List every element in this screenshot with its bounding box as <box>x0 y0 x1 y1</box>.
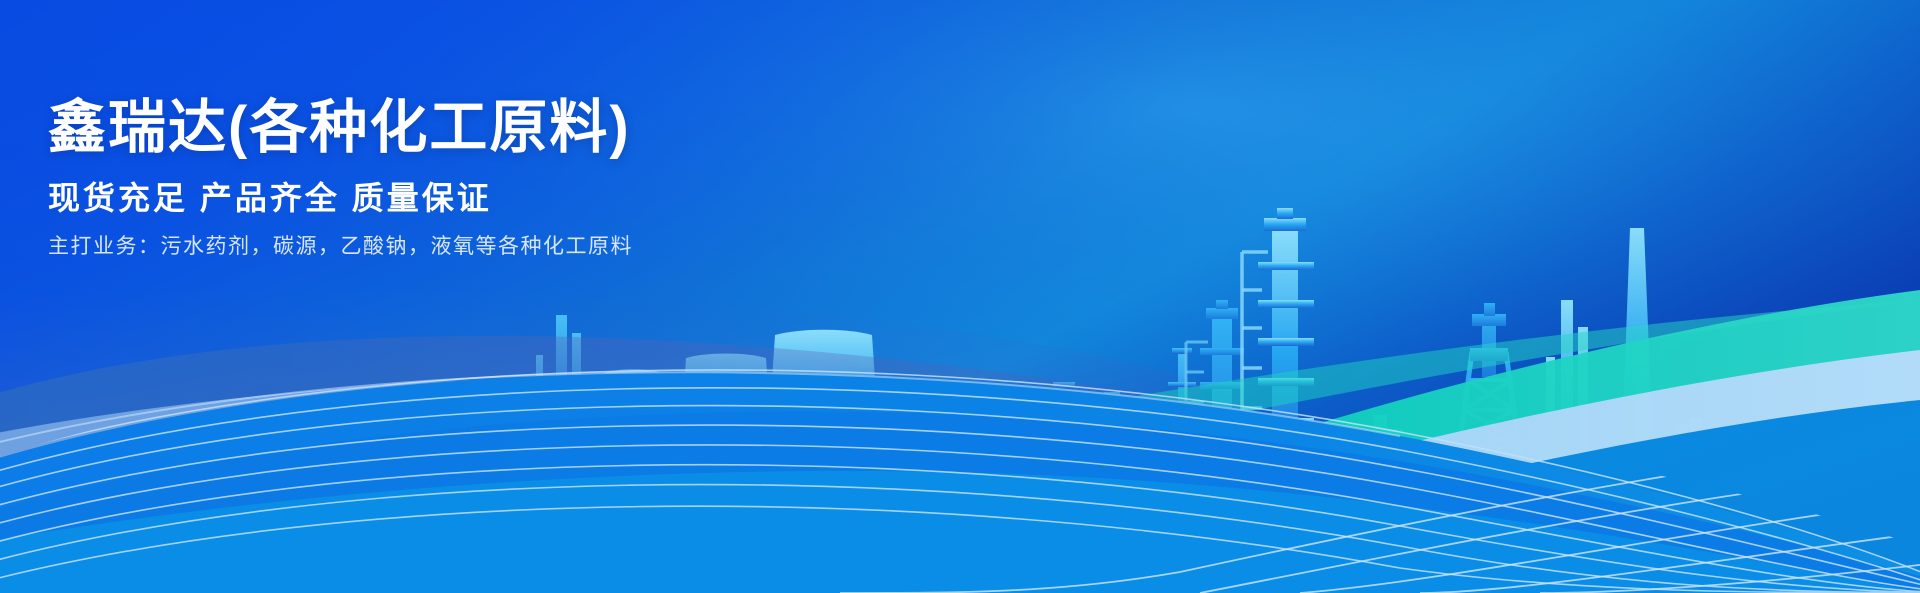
banner-subtitle: 现货充足 产品齐全 质量保证 <box>48 179 948 217</box>
promotional-banner: 鑫瑞达(各种化工原料) 现货充足 产品齐全 质量保证 主打业务：污水药剂，碳源，… <box>0 0 1920 593</box>
wave-ribbons <box>0 0 1920 593</box>
banner-copy: 鑫瑞达(各种化工原料) 现货充足 产品齐全 质量保证 主打业务：污水药剂，碳源，… <box>48 96 948 261</box>
banner-tagline: 主打业务：污水药剂，碳源，乙酸钠，液氧等各种化工原料 <box>48 233 948 260</box>
page-title: 鑫瑞达(各种化工原料) <box>48 96 948 161</box>
